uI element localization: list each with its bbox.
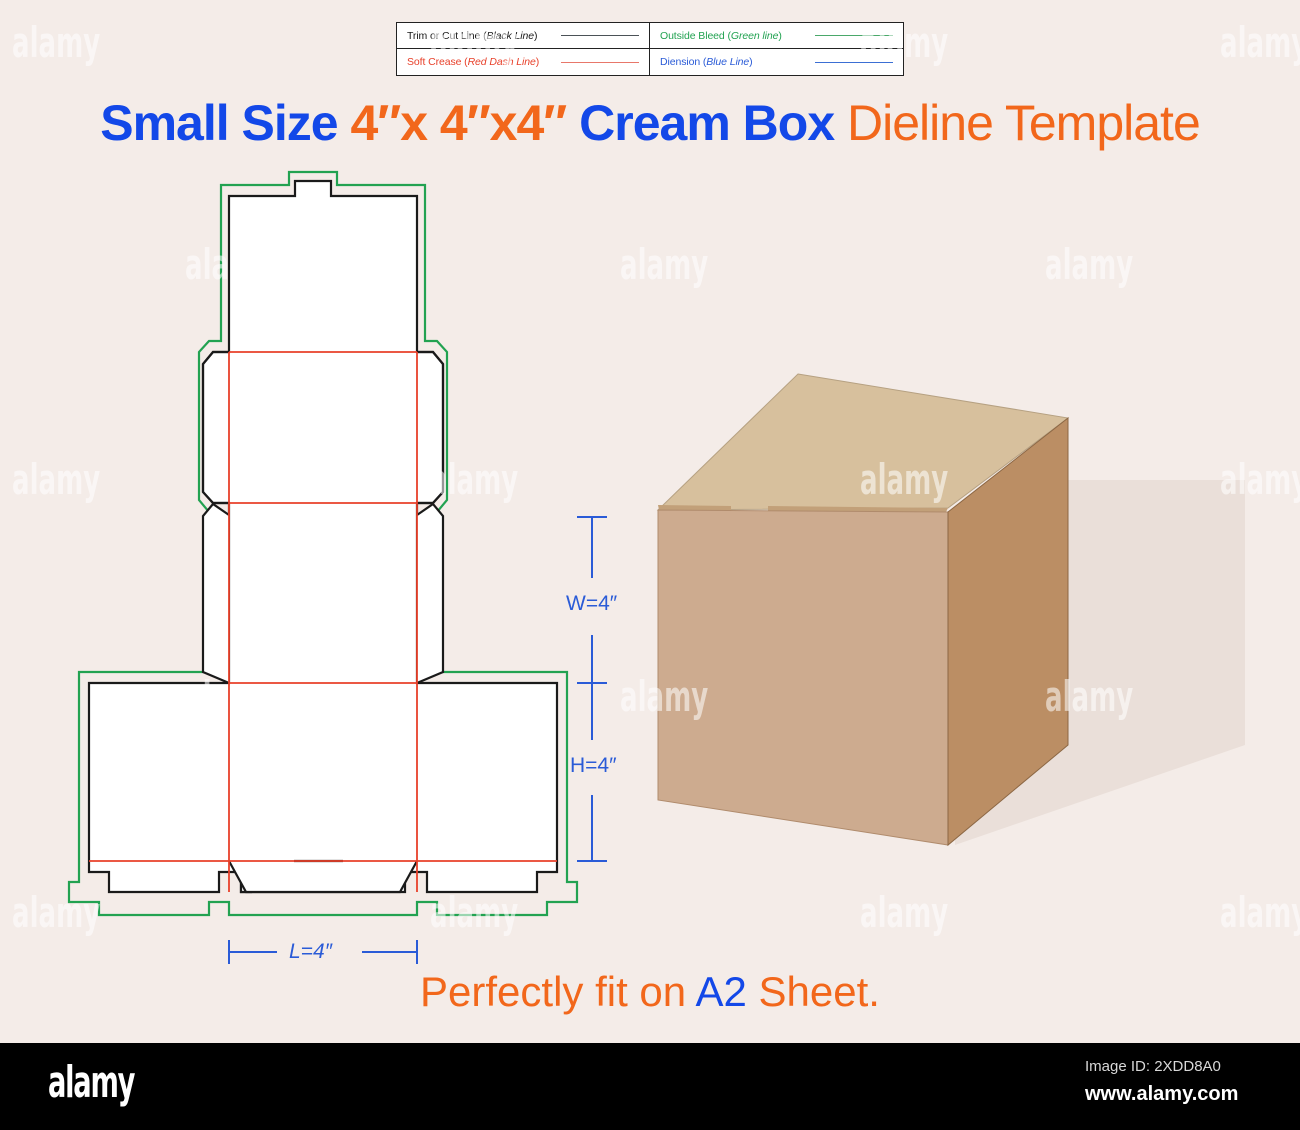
alamy-logo: alamy — [48, 1057, 134, 1108]
dim-length-label: L=4″ — [289, 940, 332, 964]
cut-bottom-center-flap — [229, 861, 417, 892]
dim-width-label: W=4″ — [566, 592, 617, 616]
caption-part-3: Sheet. — [747, 968, 880, 1015]
dieline-illustration — [0, 0, 1300, 1060]
legend-label-trim: Trim or Cut Line (Black Line) — [407, 30, 537, 42]
box-front-face — [658, 510, 948, 845]
legend-label-bleed: Outside Bleed (Green line) — [660, 30, 782, 42]
dim-height-label: H=4″ — [570, 754, 617, 778]
alamy-url-label: www.alamy.com — [1085, 1083, 1238, 1106]
caption-part-a2: A2 — [695, 968, 746, 1015]
legend-label-dimension: Diension (Blue Line) — [660, 56, 753, 68]
legend-item-outside-bleed: Outside Bleed (Green line) — [650, 23, 903, 49]
page-title: Small Size 4″x 4″x4″ Cream Box Dieline T… — [0, 98, 1300, 148]
cut-outline — [89, 181, 557, 892]
legend-swatch-red — [561, 62, 639, 63]
legend-item-trim-cut-line: Trim or Cut Line (Black Line) — [397, 23, 650, 49]
legend-swatch-blue — [815, 62, 893, 63]
legend-table: Trim or Cut Line (Black Line) Outside Bl… — [396, 22, 904, 76]
title-part-dieline: Dieline Template — [847, 95, 1200, 151]
legend-item-soft-crease: Soft Crease (Red Dash Line) — [397, 49, 650, 75]
sheet-fit-caption: Perfectly fit on A2 Sheet. — [0, 968, 1300, 1016]
legend-swatch-black — [561, 35, 639, 36]
cut-right-flap-mid — [417, 504, 443, 683]
legend-item-dimension: Diension (Blue Line) — [650, 49, 903, 75]
cut-left-flap-mid — [203, 504, 229, 683]
title-part-size: Small Size — [100, 95, 350, 151]
caption-part-1: Perfectly fit on — [420, 968, 695, 1015]
image-id-label: Image ID: 2XDD8A0 — [1085, 1058, 1221, 1075]
legend-label-crease: Soft Crease (Red Dash Line) — [407, 56, 539, 68]
legend-swatch-green — [815, 35, 893, 36]
screenshot-root: W=4″ H=4″ L=4″ Trim or Cut Line (Black L… — [0, 0, 1300, 1130]
title-part-dims: 4″x 4″x4″ — [350, 95, 579, 151]
title-part-cream-box: Cream Box — [579, 95, 847, 151]
